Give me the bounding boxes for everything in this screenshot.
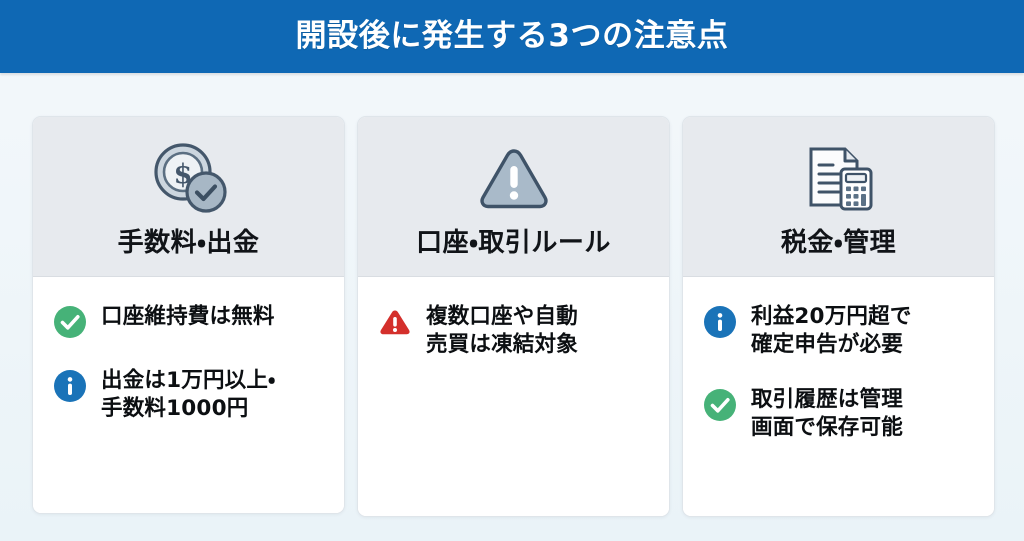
card-account-trading-rules: 口座・取引ルール 複数口座や自動 売買は凍結対象 [357, 116, 670, 517]
card-title: 手数料・出金 [118, 229, 260, 258]
infographic-page: 開設後に発生する3つの注意点 $ 手数料・出金 [0, 0, 1024, 541]
alert-triangle-icon [378, 305, 412, 339]
page-title: 開設後に発生する3つの注意点 [296, 21, 729, 52]
card-body: 利益20万円超で 確定申告が必要 取引履歴は管理 画面で保存可能 [683, 277, 994, 516]
document-calculator-icon [799, 139, 879, 217]
list-item: 口座維持費は無料 [53, 303, 322, 339]
list-item-text: 出金は1万円以上・ 手数料1000円 [101, 367, 276, 423]
list-item: 取引履歴は管理 画面で保存可能 [703, 386, 972, 442]
card-header: 口座・取引ルール [358, 117, 669, 277]
warning-triangle-icon [475, 139, 553, 217]
list-item: 出金は1万円以上・ 手数料1000円 [53, 367, 322, 423]
list-item: 利益20万円超で 確定申告が必要 [703, 303, 972, 359]
card-header: $ 手数料・出金 [33, 117, 344, 277]
card-body: 複数口座や自動 売買は凍結対象 [358, 277, 669, 516]
list-item: 複数口座や自動 売買は凍結対象 [378, 303, 647, 359]
dollar-coin-check-icon: $ [149, 139, 229, 217]
info-circle-icon [53, 369, 87, 403]
card-fees-withdrawal: $ 手数料・出金 口座維持費は無料 [32, 116, 345, 514]
card-tax-management: 税金・管理 利益20万円超で 確定申告が必要 [682, 116, 995, 517]
card-title: 口座・取引ルール [416, 229, 611, 258]
list-item-text: 取引履歴は管理 画面で保存可能 [751, 386, 903, 442]
card-title: 税金・管理 [781, 229, 896, 258]
cards-row: $ 手数料・出金 口座維持費は無料 [32, 116, 995, 517]
check-circle-icon [703, 388, 737, 422]
list-item-text: 利益20万円超で 確定申告が必要 [751, 303, 912, 359]
info-circle-icon [703, 305, 737, 339]
check-circle-icon [53, 305, 87, 339]
list-item-text: 口座維持費は無料 [101, 303, 275, 331]
card-header: 税金・管理 [683, 117, 994, 277]
list-item-text: 複数口座や自動 売買は凍結対象 [426, 303, 578, 359]
card-body: 口座維持費は無料 出金は1万円以上・ 手数料1000円 [33, 277, 344, 513]
header-band: 開設後に発生する3つの注意点 [0, 0, 1024, 73]
